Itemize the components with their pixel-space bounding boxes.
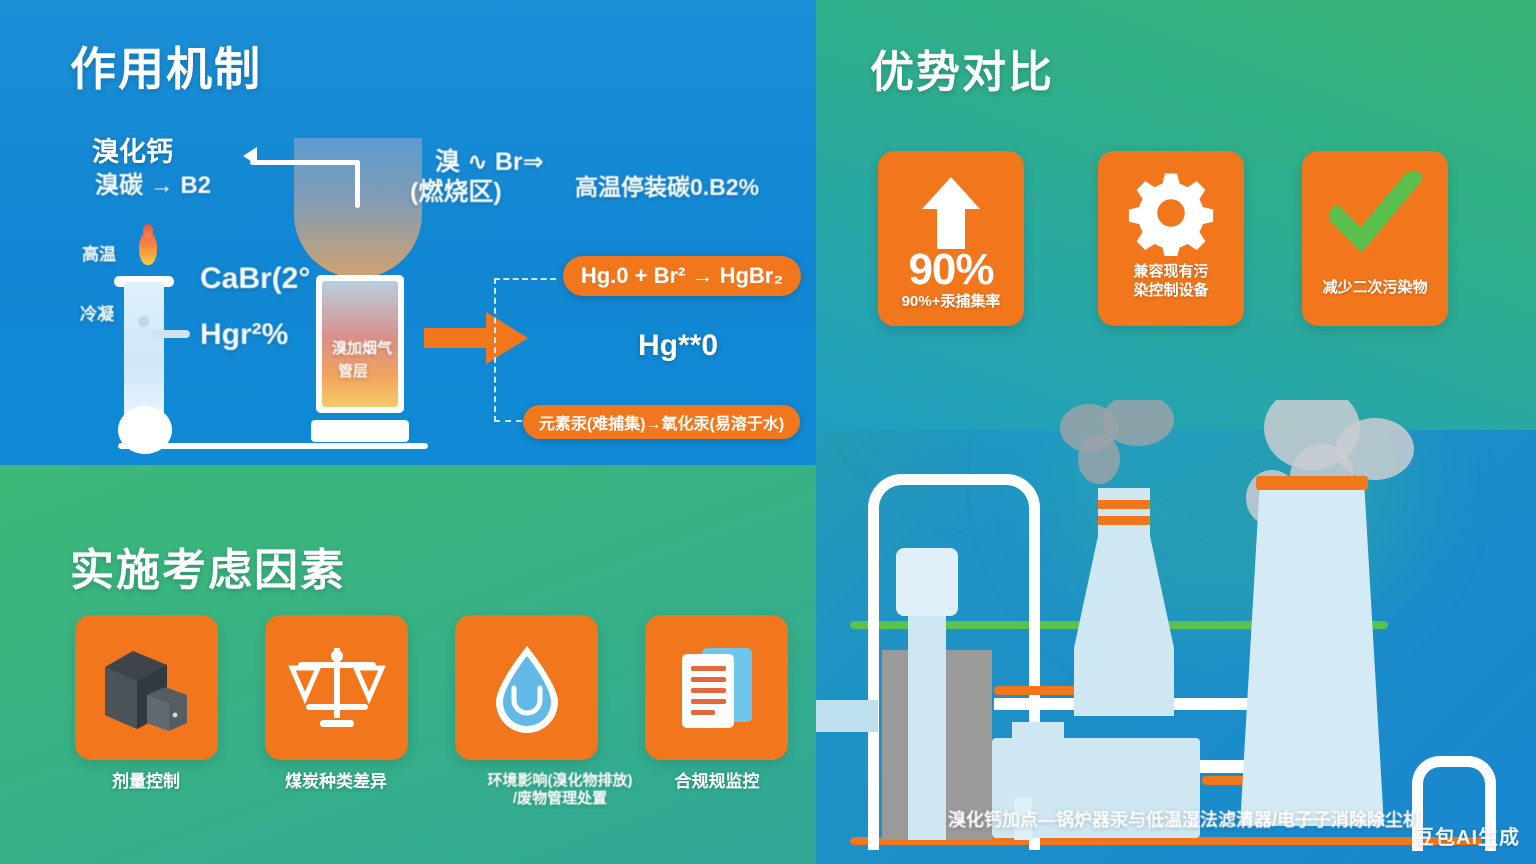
beaker-inner-label-2: 管层 [338, 360, 368, 381]
water-drop-icon [490, 642, 564, 734]
advantage-label-3: 减少二次污染物 [1314, 279, 1435, 298]
implementation-card-coal-type[interactable] [265, 615, 408, 760]
conversion-pill: 元素汞(难捕集)→氧化汞(易溶于水) [523, 405, 800, 439]
hg0-formula-label: Hg**0 [638, 329, 718, 363]
test-tube [124, 282, 164, 422]
advantage-card-compatibility[interactable]: 兼容现有污 染控制设备 [1098, 151, 1244, 326]
check-icon [1329, 169, 1421, 257]
implementation-label-1: 剂量控制 [46, 772, 246, 792]
advantage-stat-90: 90% [878, 245, 1024, 295]
inlet-arrow-icon [243, 147, 257, 165]
plant-caption: 溴化钙加点—锅炉器汞与低温湿法滤清器/电子子消除除尘机 [948, 806, 1418, 832]
plant-panel-overlay [816, 400, 1536, 864]
advantage-label-1: 90%+汞捕集率 [894, 293, 1009, 312]
cabr2-formula-label: CaBr(2° [200, 262, 310, 296]
lab-bench-line [118, 443, 428, 449]
beaker-base [311, 420, 409, 442]
advantage-card-capture-rate[interactable]: 90%+汞捕集率 [878, 151, 1024, 326]
advantage-card-secondary-pollution[interactable]: 减少二次污染物 [1302, 151, 1448, 326]
tube-bubble [138, 316, 149, 327]
dashed-connector-bottom [494, 420, 522, 422]
watermark-label: 豆包AI生成 [1414, 821, 1520, 850]
reagent-title-label: 溴化钙 [92, 130, 173, 169]
implementation-card-dosage[interactable] [75, 615, 218, 760]
cooling-label: 冷凝 [80, 300, 114, 325]
implementation-title: 实施考虑因素 [70, 534, 346, 598]
dashed-connector-top [494, 278, 556, 280]
high-temp-label: 高温 [82, 240, 116, 265]
implementation-card-environment[interactable] [455, 615, 598, 760]
reagent-sub-label: 溴碳 → B2 [95, 165, 211, 200]
mechanism-title: 作用机制 [70, 33, 262, 99]
coal-blocks-icon [99, 643, 195, 733]
equation-pill: Hg.0 + Br² → HgBr₂ [563, 256, 801, 296]
beaker-inner-label-1: 溴加烟气 [332, 337, 392, 358]
inlet-pipe-vertical [355, 160, 360, 208]
hgbr2-formula-label: Hgr²% [200, 318, 288, 352]
implementation-label-4: 合规规监控 [617, 772, 817, 792]
implementation-label-2: 煤炭种类差异 [236, 772, 436, 792]
fume-hood-graphic [294, 138, 422, 278]
flame-icon [139, 231, 157, 265]
reaction-arrow-icon [424, 312, 528, 364]
furnace-note-label: 高温停装碳0.B2% [575, 168, 759, 202]
tube-nozzle [150, 330, 190, 338]
balance-scale-icon [286, 642, 388, 734]
advantages-title: 优势对比 [870, 36, 1054, 100]
document-icon [674, 642, 760, 734]
up-arrow-icon [920, 169, 982, 257]
infographic-root: 作用机制 溴化钙 溴碳 → B2 溴 ∿ Br⇒ (燃烧区) 高温停装碳0.B2… [0, 0, 1536, 864]
inlet-pipe-horizontal [250, 160, 360, 165]
dashed-connector-vertical [494, 278, 496, 422]
bromine-label-line2: (燃烧区) [410, 172, 502, 208]
implementation-card-compliance[interactable] [645, 615, 788, 760]
advantage-label-2: 兼容现有污 染控制设备 [1125, 263, 1216, 301]
gear-icon [1128, 169, 1214, 257]
